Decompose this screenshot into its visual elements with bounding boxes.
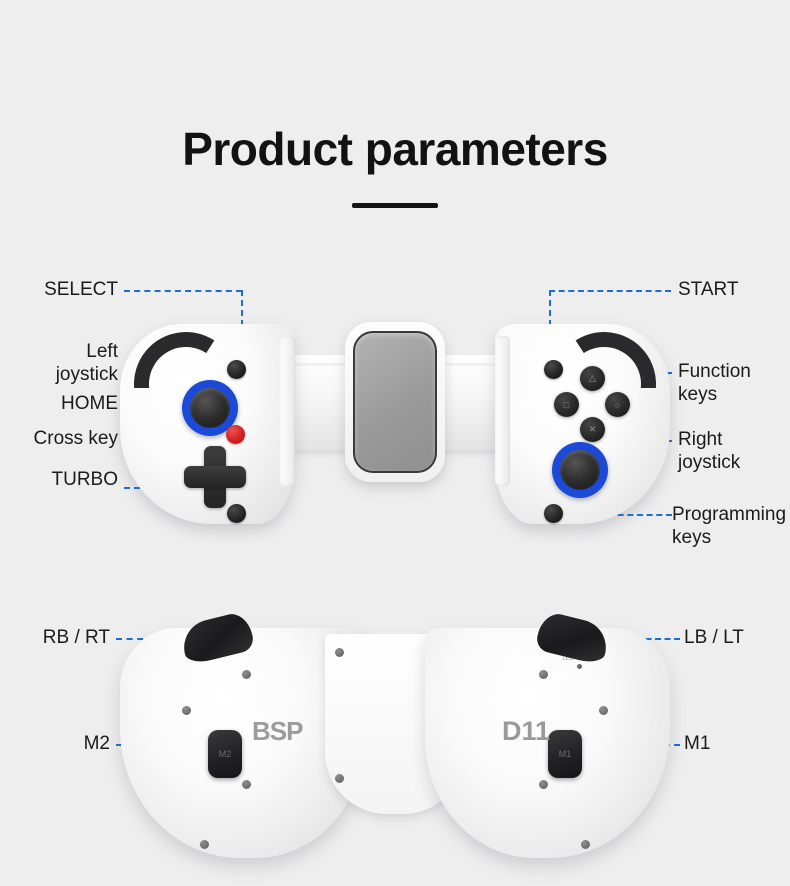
right-grip: △ □ ○ ✕ bbox=[495, 324, 670, 524]
screw bbox=[182, 706, 191, 715]
label-turbo: TURBO bbox=[0, 468, 118, 491]
screw bbox=[335, 774, 344, 783]
label-lb-lt: LB / LT bbox=[684, 626, 790, 649]
model-name: D11 bbox=[502, 716, 550, 747]
label-m2: M2 bbox=[0, 732, 110, 755]
screw bbox=[539, 670, 548, 679]
m1-paddle[interactable]: M1 bbox=[548, 730, 582, 778]
label-cross-key: Cross key bbox=[0, 427, 118, 450]
title-divider bbox=[352, 203, 438, 208]
select-button[interactable] bbox=[227, 360, 246, 379]
screw bbox=[539, 780, 548, 789]
label-right-joystick: Right joystick bbox=[678, 428, 790, 474]
screw bbox=[335, 648, 344, 657]
controller-back-view: M2 BSP M1 D11 LED bbox=[120, 618, 670, 868]
function-key-circle[interactable]: ○ bbox=[605, 392, 630, 417]
programming-key-button[interactable] bbox=[544, 504, 563, 523]
label-home: HOME bbox=[0, 392, 118, 415]
dpad-horizontal bbox=[184, 466, 246, 488]
label-left-joystick: Left joystick bbox=[0, 340, 118, 386]
right-rail bbox=[495, 336, 510, 486]
left-bumper-icon bbox=[134, 332, 238, 388]
screw bbox=[242, 780, 251, 789]
label-programming-keys: Programming keys bbox=[672, 503, 790, 549]
brand-logo: BSP bbox=[252, 716, 302, 747]
page-title: Product parameters bbox=[0, 122, 790, 176]
label-select: SELECT bbox=[0, 278, 118, 301]
leader-select-h bbox=[124, 290, 242, 292]
led-indicator-icon bbox=[577, 664, 582, 669]
left-rail bbox=[280, 336, 295, 486]
product-parameters-page: Product parameters SELECT Left joystick … bbox=[0, 0, 790, 886]
screw bbox=[242, 670, 251, 679]
home-button[interactable] bbox=[226, 425, 245, 444]
controller-front-view: △ □ ○ ✕ bbox=[120, 300, 670, 530]
right-joystick-cap bbox=[560, 450, 600, 490]
function-key-triangle[interactable]: △ bbox=[580, 366, 605, 391]
function-key-square[interactable]: □ bbox=[554, 392, 579, 417]
right-joystick[interactable] bbox=[552, 442, 608, 498]
label-m1: M1 bbox=[684, 732, 790, 755]
left-grip bbox=[120, 324, 295, 524]
clamp-pad bbox=[353, 331, 437, 473]
label-function-keys: Function keys bbox=[678, 360, 790, 406]
screw bbox=[599, 706, 608, 715]
screw bbox=[581, 840, 590, 849]
m2-paddle[interactable]: M2 bbox=[208, 730, 242, 778]
leader-start-h bbox=[549, 290, 671, 292]
cross-key-dpad[interactable] bbox=[184, 446, 246, 508]
function-keys-group: △ □ ○ ✕ bbox=[554, 366, 630, 442]
function-key-cross[interactable]: ✕ bbox=[580, 417, 605, 442]
phone-clamp bbox=[345, 322, 445, 482]
label-rb-rt: RB / RT bbox=[0, 626, 110, 649]
label-start: START bbox=[678, 278, 790, 301]
screw bbox=[200, 840, 209, 849]
turbo-button[interactable] bbox=[227, 504, 246, 523]
back-right-grip: M1 D11 LED bbox=[425, 628, 670, 858]
left-joystick-cap bbox=[190, 388, 230, 428]
